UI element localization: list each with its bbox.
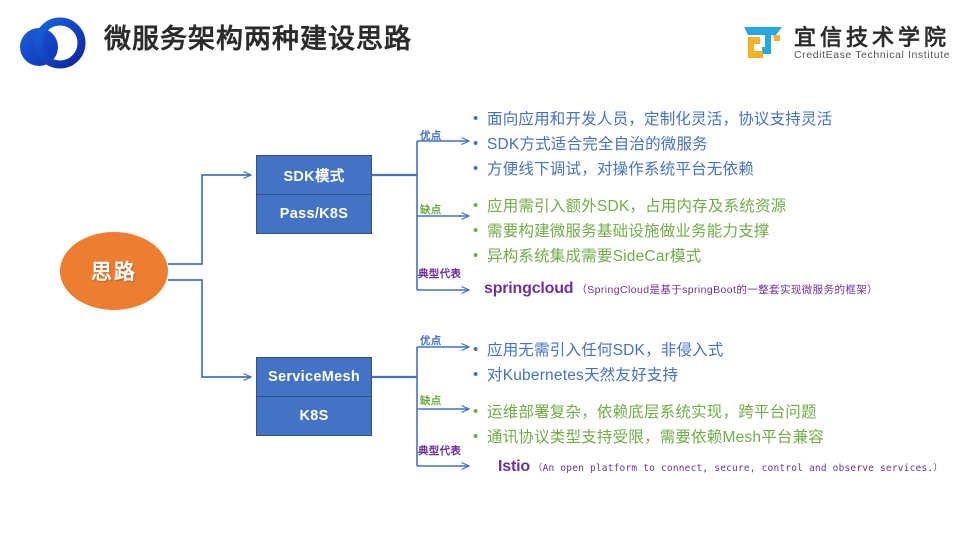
branch-box-sdk-subtitle: Pass/K8S	[257, 195, 371, 233]
representative-description: （An open platform to connect, secure, co…	[533, 463, 943, 474]
list-item: 方便线下调试，对操作系统平台无依赖	[472, 157, 832, 182]
bullet-list-mesh-cons: 运维部署复杂，依赖底层系统实现，跨平台问题 通讯协议类型支持受限，需要依赖Mes…	[472, 400, 824, 450]
representative-springcloud: springcloud（SpringCloud是基于springBoot的一整套…	[484, 280, 878, 298]
tag-sdk-pros: 优点	[420, 128, 442, 143]
list-item: 需要构建微服务基础设施做业务能力支撑	[472, 219, 786, 244]
root-node-label: 思路	[91, 256, 137, 286]
tag-sdk-cons: 缺点	[420, 202, 442, 217]
tag-mesh-representative: 典型代表	[418, 443, 461, 458]
branch-box-servicemesh-subtitle: K8S	[257, 397, 371, 435]
list-item: 应用需引入额外SDK，占用内存及系统资源	[472, 194, 786, 219]
branch-box-servicemesh-title: ServiceMesh	[257, 358, 371, 397]
bullet-list-sdk-pros: 面向应用和开发人员，定制化灵活，协议支持灵活 SDK方式适合完全自治的微服务 方…	[472, 107, 832, 182]
list-item: 对Kubernetes天然友好支持	[472, 363, 724, 388]
representative-istio: Istio（An open platform to connect, secur…	[498, 458, 943, 476]
representative-name: Istio	[498, 458, 530, 475]
tag-sdk-representative: 典型代表	[418, 266, 461, 281]
representative-description: （SpringCloud是基于springBoot的一整套实现微服务的框架）	[576, 284, 878, 296]
representative-name: springcloud	[484, 280, 573, 297]
list-item: SDK方式适合完全自治的微服务	[472, 132, 832, 157]
tag-mesh-cons: 缺点	[420, 393, 442, 408]
branch-box-sdk[interactable]: SDK模式 Pass/K8S	[256, 155, 372, 234]
list-item: 面向应用和开发人员，定制化灵活，协议支持灵活	[472, 107, 832, 132]
list-item: 应用无需引入任何SDK，非侵入式	[472, 338, 724, 363]
root-node-siluo[interactable]: 思路	[60, 232, 168, 310]
bullet-list-mesh-pros: 应用无需引入任何SDK，非侵入式 对Kubernetes天然友好支持	[472, 338, 724, 388]
list-item: 运维部署复杂，依赖底层系统实现，跨平台问题	[472, 400, 824, 425]
branch-box-sdk-title: SDK模式	[257, 156, 371, 195]
diagram-canvas: 思路 SDK模式 Pass/K8S ServiceMesh K8S 优点 面向应…	[0, 0, 960, 540]
list-item: 通讯协议类型支持受限，需要依赖Mesh平台兼容	[472, 425, 824, 450]
bullet-list-sdk-cons: 应用需引入额外SDK，占用内存及系统资源 需要构建微服务基础设施做业务能力支撑 …	[472, 194, 786, 269]
tag-mesh-pros: 优点	[420, 333, 442, 348]
list-item: 异构系统集成需要SideCar模式	[472, 244, 786, 269]
branch-box-servicemesh[interactable]: ServiceMesh K8S	[256, 357, 372, 436]
